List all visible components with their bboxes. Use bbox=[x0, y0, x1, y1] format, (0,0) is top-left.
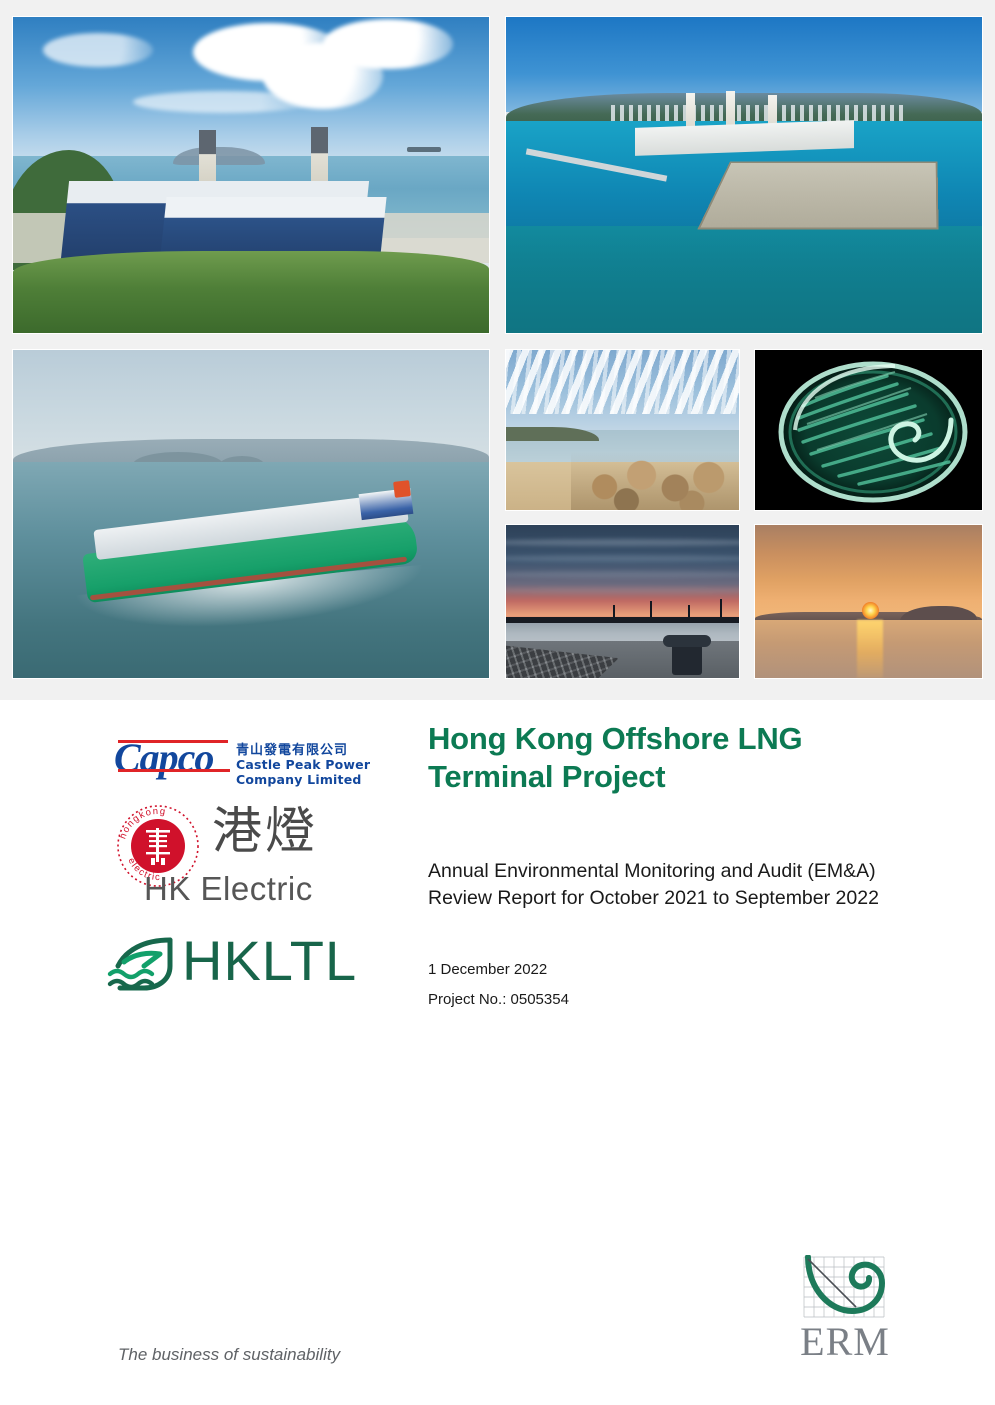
erm-wordmark: ERM bbox=[790, 1322, 900, 1362]
document-date: 1 December 2022 bbox=[428, 961, 908, 978]
document-title: Hong Kong Offshore LNG Terminal Project bbox=[428, 720, 908, 796]
photo-harbour-dusk bbox=[505, 524, 740, 679]
cover-image-collage bbox=[0, 0, 995, 700]
erm-tagline: The business of sustainability bbox=[118, 1345, 340, 1365]
cover-lower-section: Capco 青山發電有限公司 Castle Peak Power Company… bbox=[0, 700, 995, 1405]
photo-terminal-aerial bbox=[505, 16, 983, 334]
capco-english-name: Castle Peak Power Company Limited bbox=[236, 757, 414, 787]
photo-green-spiral bbox=[754, 349, 983, 511]
hk-electric-chinese-name: 港燈 bbox=[212, 806, 318, 856]
project-number: Project No.: 0505354 bbox=[428, 991, 908, 1008]
hkltl-leaf-icon bbox=[104, 936, 180, 992]
hkltl-logo: HKLTL bbox=[104, 934, 414, 1000]
title-block: Hong Kong Offshore LNG Terminal Project … bbox=[428, 720, 908, 1008]
client-logo-column: Capco 青山發電有限公司 Castle Peak Power Company… bbox=[104, 736, 414, 1000]
photo-shoreline bbox=[505, 349, 740, 511]
photo-lng-carrier bbox=[12, 349, 490, 679]
hk-electric-english-name: HK Electric bbox=[144, 870, 313, 908]
mooring-bollard bbox=[672, 641, 702, 675]
hkltl-wordmark: HKLTL bbox=[182, 930, 357, 992]
photo-powerstation-coastal bbox=[12, 16, 490, 334]
erm-fern-icon bbox=[790, 1255, 900, 1325]
hk-electric-logo: hongkong electric 港燈 HK Electric bbox=[104, 800, 414, 912]
document-subtitle: Annual Environmental Monitoring and Audi… bbox=[428, 858, 908, 913]
capco-chinese-name: 青山發電有限公司 bbox=[236, 739, 348, 758]
capco-red-bar-bottom bbox=[118, 769, 230, 772]
capco-wordmark: Capco bbox=[114, 734, 213, 781]
capco-logo: Capco 青山發電有限公司 Castle Peak Power Company… bbox=[104, 736, 414, 780]
erm-logo: ERM bbox=[790, 1255, 900, 1360]
photo-sunset bbox=[754, 524, 983, 679]
